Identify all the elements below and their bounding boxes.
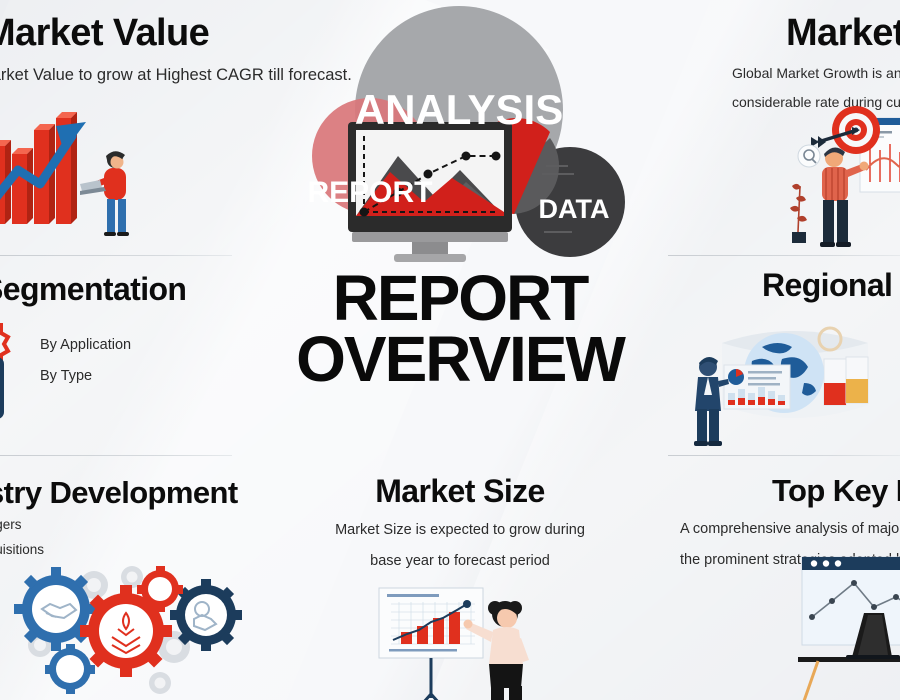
market-size-title: Market Size <box>252 475 668 509</box>
market-growth-subtitle-line1: Global Market Growth is anticipated at a <box>732 64 900 83</box>
whiteboard-bar-chart-presenter-illustration <box>365 586 555 700</box>
market-value-subtitle: Market Value to grow at Highest CAGR til… <box>0 64 252 86</box>
report-overview-infographic: Market Value Market Value to grow at Hig… <box>0 0 900 700</box>
segmentation-title: Segmentation <box>0 273 252 307</box>
segmentation-item-by-type: By Type <box>40 368 131 384</box>
section-top-key-players: Top Key Players A comprehensive analysis… <box>668 455 900 700</box>
data-bubble-label: DATA <box>539 194 610 224</box>
analysis-bubble-label: ANALYSIS <box>355 86 564 133</box>
section-market-value: Market Value Market Value to grow at Hig… <box>0 0 252 255</box>
laptop-line-chart-desk-illustration <box>788 553 900 700</box>
top-key-players-title: Top Key Players <box>772 475 900 508</box>
bar-chart-growth-arrow-illustration <box>0 96 160 246</box>
hero-title-line1: REPORT <box>252 268 668 329</box>
section-regional-analysis: Regional Analysis <box>668 255 900 455</box>
section-segmentation: Segmentation By Application By Type <box>0 255 252 455</box>
segmentation-list: By Application By Type <box>40 337 131 399</box>
market-value-title: Market Value <box>0 14 252 54</box>
hero-title-line2: OVERVIEW <box>252 329 668 390</box>
gears-handshake-rocket-illustration <box>8 551 258 700</box>
industry-development-title: Industry Development <box>0 477 252 510</box>
page-title: REPORT OVERVIEW <box>252 268 668 390</box>
section-market-size: Market Size Market Size is expected to g… <box>252 455 668 700</box>
report-analysis-data-graphic: ANALYSIS REPORT DATA <box>252 6 668 268</box>
market-size-subtitle-line2: base year to forecast period <box>252 552 668 572</box>
section-industry-development: Industry Development Mergers Acquisition… <box>0 455 252 700</box>
regional-analysis-title: Regional Analysis <box>762 269 900 303</box>
top-key-players-subtitle-line1: A comprehensive analysis of major market… <box>680 520 900 540</box>
market-size-subtitle-line1: Market Size is expected to grow during <box>252 521 668 541</box>
globe-regional-dashboard-illustration <box>688 303 900 453</box>
target-dartboard-analyst-illustration <box>764 100 900 250</box>
section-market-growth: Market Growth Global Market Growth is an… <box>668 0 900 255</box>
industry-item-mergers: Mergers <box>0 517 44 532</box>
report-bubble-label: REPORT <box>307 176 432 209</box>
segmentation-item-by-application: By Application <box>40 337 131 353</box>
hero-block: ANALYSIS REPORT DATA REPORT OVERVIEW <box>252 0 668 440</box>
market-growth-title: Market Growth <box>786 14 900 54</box>
